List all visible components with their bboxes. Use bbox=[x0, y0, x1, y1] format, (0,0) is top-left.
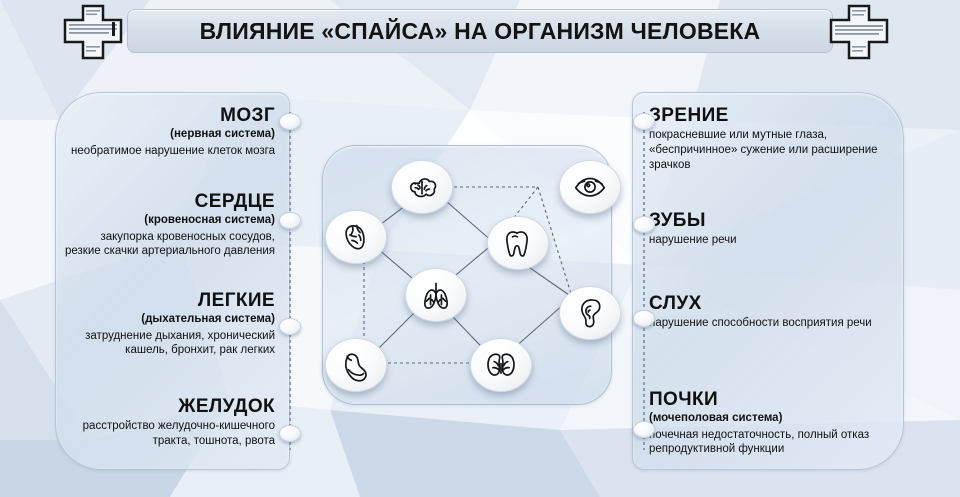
connector-dot-hearing[interactable] bbox=[633, 310, 655, 327]
organ-title: ПОЧКИ bbox=[649, 389, 897, 410]
icon-bubble-heart[interactable] bbox=[325, 210, 387, 264]
organ-desc: необратимое нарушение клеток мозга bbox=[64, 144, 275, 159]
connector-dot-kidneys[interactable] bbox=[633, 421, 655, 438]
organ-desc: закупорка кровеносных сосудов, резкие ск… bbox=[64, 230, 275, 259]
info-block-teeth: ЗУБЫ нарушение речи bbox=[649, 210, 897, 248]
organ-desc: расстройство желудочно-кишечного тракта,… bbox=[64, 419, 275, 448]
connector-dot-stomach[interactable] bbox=[279, 425, 301, 442]
icon-bubble-ear[interactable] bbox=[559, 286, 621, 340]
medical-cross-badge-left bbox=[62, 4, 124, 60]
header: ВЛИЯНИЕ «СПАЙСА» НА ОРГАНИЗМ ЧЕЛОВЕКА bbox=[0, 0, 960, 62]
connector-dot-heart[interactable] bbox=[279, 212, 301, 229]
organ-title: ЗРЕНИЕ bbox=[649, 105, 897, 126]
info-block-kidneys: ПОЧКИ (мочеполовая система) почечная нед… bbox=[649, 389, 897, 457]
icon-bubble-tooth[interactable] bbox=[487, 216, 549, 270]
organ-title: МОЗГ bbox=[64, 105, 275, 126]
ear-icon bbox=[571, 296, 609, 330]
eye-icon bbox=[571, 170, 609, 204]
connector-dot-lungs[interactable] bbox=[279, 318, 301, 335]
right-info-panel: ЗРЕНИЕ покрасневшие или мутные глаза, «б… bbox=[632, 92, 904, 470]
organ-title: ЛЕГКИЕ bbox=[64, 290, 275, 311]
organ-title: СЕРДЦЕ bbox=[64, 191, 275, 212]
info-block-stomach: ЖЕЛУДОК расстройство желудочно-кишечного… bbox=[64, 396, 289, 449]
lungs-icon bbox=[417, 278, 455, 312]
kidneys-icon bbox=[482, 348, 520, 382]
info-block-lungs: ЛЕГКИЕ (дыхательная система) затруднение… bbox=[64, 290, 289, 358]
left-info-panel: МОЗГ (нервная система) необратимое наруш… bbox=[55, 92, 290, 470]
organ-desc: покрасневшие или мутные глаза, «беспричи… bbox=[649, 128, 897, 172]
organ-desc: затруднение дыхания, хронический кашель,… bbox=[64, 329, 275, 358]
icon-bubble-kidneys[interactable] bbox=[470, 338, 532, 392]
connector-dot-vision[interactable] bbox=[633, 113, 655, 130]
info-block-vision: ЗРЕНИЕ покрасневшие или мутные глаза, «б… bbox=[649, 105, 897, 172]
icon-bubble-lungs[interactable] bbox=[405, 268, 467, 322]
medical-cross-badge-right bbox=[828, 4, 890, 60]
info-block-brain: МОЗГ (нервная система) необратимое наруш… bbox=[64, 105, 289, 158]
icon-bubble-stomach[interactable] bbox=[325, 338, 387, 392]
icon-bubble-brain[interactable] bbox=[391, 160, 453, 214]
organ-desc: почечная недостаточность, полный отказ р… bbox=[649, 428, 897, 457]
organ-system: (кровеносная система) bbox=[64, 213, 275, 227]
info-block-heart: СЕРДЦЕ (кровеносная система) закупорка к… bbox=[64, 191, 289, 259]
stomach-icon bbox=[337, 348, 375, 382]
connector-dot-teeth[interactable] bbox=[633, 216, 655, 233]
right-connector-rail bbox=[643, 112, 645, 450]
organ-title: ЖЕЛУДОК bbox=[64, 396, 275, 417]
connector-dot-brain[interactable] bbox=[279, 113, 301, 130]
heart-icon bbox=[337, 220, 375, 254]
page-title-bar: ВЛИЯНИЕ «СПАЙСА» НА ОРГАНИЗМ ЧЕЛОВЕКА bbox=[127, 9, 833, 53]
organ-title: ЗУБЫ bbox=[649, 210, 897, 231]
organ-desc: нарушение способности восприятия речи bbox=[649, 316, 897, 331]
organ-desc: нарушение речи bbox=[649, 233, 897, 248]
tooth-icon bbox=[499, 226, 537, 260]
organ-title: СЛУХ bbox=[649, 293, 897, 314]
page-title: ВЛИЯНИЕ «СПАЙСА» НА ОРГАНИЗМ ЧЕЛОВЕКА bbox=[200, 18, 761, 45]
organ-system: (дыхательная система) bbox=[64, 312, 275, 326]
brain-icon bbox=[403, 170, 441, 204]
organ-system: (мочеполовая система) bbox=[649, 411, 897, 425]
info-block-hearing: СЛУХ нарушение способности восприятия ре… bbox=[649, 293, 897, 331]
icon-bubble-eye[interactable] bbox=[559, 160, 621, 214]
left-connector-rail bbox=[289, 112, 291, 450]
organ-system: (нервная система) bbox=[64, 127, 275, 141]
